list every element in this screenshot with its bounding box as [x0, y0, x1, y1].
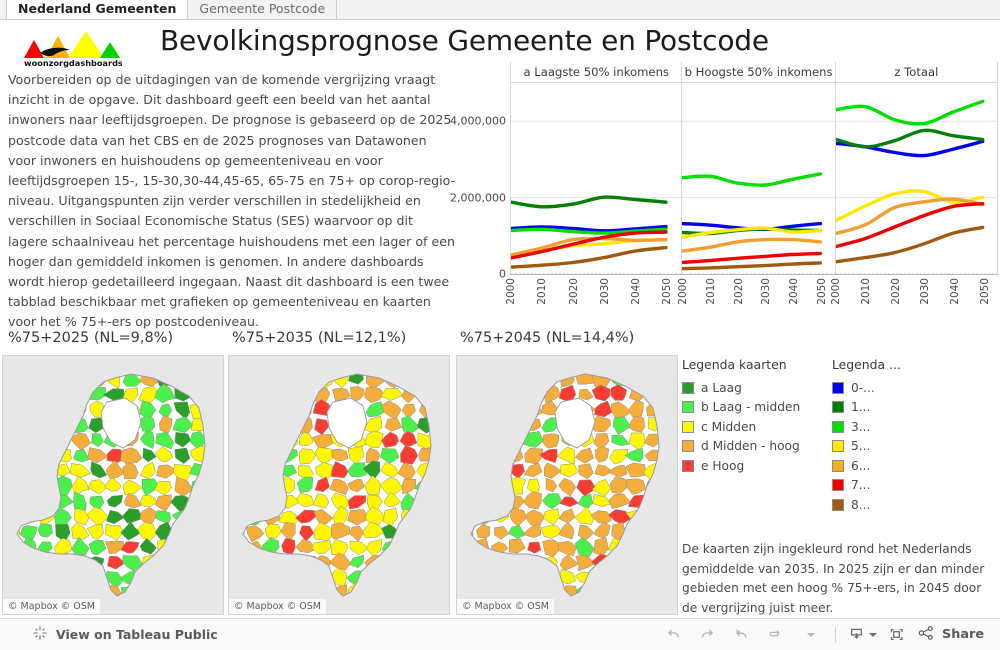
map-title-2025: %75+2025 (NL=9,8%) — [8, 330, 173, 346]
legend-line-label: 6... — [851, 459, 870, 473]
x-tick-label: 2020 — [568, 278, 580, 305]
intro-text: Voorbereiden op de uitdagingen van de ko… — [8, 70, 456, 333]
x-tick-label: 2020 — [890, 278, 902, 305]
map-title-2035: %75+2035 (NL=12,1%) — [232, 330, 406, 346]
legend-map-label: e Hoog — [701, 459, 744, 473]
series-line — [682, 174, 820, 185]
chevron-down-icon — [807, 633, 815, 637]
x-tick-label: 2010 — [536, 278, 548, 305]
series-line — [836, 130, 983, 147]
series-line — [682, 239, 820, 251]
x-ticks-z: 200020102020203020402050 — [835, 274, 998, 320]
legend-line-swatch — [832, 401, 844, 413]
legend-map-label: b Laag - midden — [701, 400, 800, 414]
series-line — [682, 263, 820, 269]
series-line — [836, 141, 983, 155]
legend-map-item[interactable]: e Hoog — [682, 456, 800, 476]
chart-panel-a-title: a Laagste 50% inkomens — [511, 62, 681, 83]
x-tick-label: 2050 — [979, 278, 991, 305]
toolbar-actions: Share — [656, 622, 984, 648]
chart-panel-a: a Laagste 50% inkomens — [510, 62, 681, 274]
chart-panel-b: b Hoogste 50% inkomens — [681, 62, 834, 274]
map-attribution-2025: © Mapbox © OSM — [3, 599, 100, 614]
intro-paragraph: Voorbereiden op de uitdagingen van de ko… — [8, 70, 456, 333]
legend-map-item[interactable]: b Laag - midden — [682, 398, 800, 418]
share-label: Share — [942, 627, 984, 642]
legend-line-label: 8... — [851, 498, 870, 512]
legend-line-item[interactable]: 8... — [832, 495, 901, 515]
toolbar-separator — [835, 627, 836, 643]
map-2045[interactable]: © Mapbox © OSM — [456, 355, 678, 615]
tab-gemeente-postcode[interactable]: Gemeente Postcode — [188, 0, 337, 19]
municipality-area[interactable] — [543, 434, 559, 449]
logo-text: woonzorgdashboards.nl — [24, 58, 122, 68]
chart-panel-z: z Totaal — [835, 62, 998, 274]
legend-line-label: 5... — [851, 439, 870, 453]
map-2035[interactable]: © Mapbox © OSM — [228, 355, 450, 615]
share-icon — [917, 624, 935, 646]
legend-line-swatch — [832, 440, 844, 452]
series-line — [511, 197, 666, 207]
legend-line-item[interactable]: 6... — [832, 456, 901, 476]
legend-map-swatch — [682, 460, 694, 472]
y-tick-label: 4,000,000 — [450, 115, 506, 128]
undo-button[interactable] — [656, 622, 690, 648]
x-tick-label: 2010 — [860, 278, 872, 305]
x-tick-label: 2000 — [677, 278, 689, 305]
chart-plot-b[interactable] — [682, 83, 834, 274]
line-chart-panel-group: 02,000,0004,000,000 a Laagste 50% inkome… — [458, 62, 998, 320]
x-tick-label: 2040 — [788, 278, 800, 305]
x-tick-label: 2030 — [760, 278, 772, 305]
chart-panels: a Laagste 50% inkomens b Hoogste 50% ink… — [510, 62, 998, 274]
revert-button[interactable] — [724, 622, 758, 648]
chart-plot-z[interactable] — [836, 83, 997, 274]
fullscreen-button[interactable] — [879, 622, 913, 648]
legend-line-swatch — [832, 382, 844, 394]
tableau-logo-icon — [32, 625, 48, 645]
choropleth-map — [457, 356, 678, 615]
view-on-tableau-public-button[interactable]: View on Tableau Public — [32, 625, 218, 645]
legend-line-label: 3... — [851, 420, 870, 434]
refresh-button[interactable] — [758, 622, 792, 648]
tab-nederland-gemeenten[interactable]: Nederland Gemeenten — [6, 0, 188, 19]
chart-plot-a[interactable] — [511, 83, 681, 274]
legend-line-item[interactable]: 1... — [832, 398, 901, 418]
legend-line-item[interactable]: 0-... — [832, 378, 901, 398]
legend-map-label: a Laag — [701, 381, 742, 395]
download-button[interactable] — [845, 622, 879, 648]
legend-line-label: 1... — [851, 400, 870, 414]
choropleth-map — [3, 356, 224, 615]
dashboard-root: Nederland Gemeenten Gemeente Postcode wo… — [0, 0, 1000, 650]
legend-map-swatch — [682, 440, 694, 452]
legend-map-swatch — [682, 382, 694, 394]
legend-line-label: 7... — [851, 478, 870, 492]
series-line — [836, 101, 983, 124]
y-tick-label: 2,000,000 — [450, 191, 506, 204]
map-2025[interactable]: © Mapbox © OSM — [2, 355, 224, 615]
pause-dropdown-button[interactable] — [792, 622, 826, 648]
legend-line-item[interactable]: 3... — [832, 417, 901, 437]
chart-y-axis: 02,000,0004,000,000 — [458, 62, 510, 274]
redo-button[interactable] — [690, 622, 724, 648]
legend-line-item[interactable]: 5... — [832, 437, 901, 457]
legend-line-swatch — [832, 460, 844, 472]
tab-bar: Nederland Gemeenten Gemeente Postcode — [0, 0, 1000, 20]
x-ticks-a: 200020102020203020402050 — [510, 274, 682, 320]
legend-lines: Legenda ... 0-...1...3...5...6...7...8..… — [832, 357, 901, 515]
legend-map-item[interactable]: c Midden — [682, 417, 800, 437]
map-title-2045: %75+2045 (NL=14,4%) — [460, 330, 634, 346]
legend-line-swatch — [832, 421, 844, 433]
x-tick-label: 2040 — [949, 278, 961, 305]
x-tick-label: 2020 — [733, 278, 745, 305]
x-tick-label: 2040 — [630, 278, 642, 305]
chart-panel-b-title: b Hoogste 50% inkomens — [682, 62, 834, 83]
x-ticks-b: 200020102020203020402050 — [682, 274, 835, 320]
legend-map-label: c Midden — [701, 420, 756, 434]
chevron-down-icon — [869, 633, 877, 637]
x-tick-label: 2030 — [599, 278, 611, 305]
legend-map-swatch — [682, 421, 694, 433]
legend-maps-items: a Laagb Laag - middenc Middend Midden - … — [682, 378, 800, 476]
x-tick-label: 2010 — [705, 278, 717, 305]
choropleth-map — [229, 356, 450, 615]
legend-maps: Legenda kaarten a Laagb Laag - middenc M… — [682, 357, 800, 476]
series-line — [682, 253, 820, 262]
legend-lines-items: 0-...1...3...5...6...7...8... — [832, 378, 901, 515]
share-button[interactable]: Share — [917, 624, 984, 646]
legend-map-label: d Midden - hoog — [701, 439, 800, 453]
legend-map-item[interactable]: d Midden - hoog — [682, 437, 800, 457]
chart-x-axis: 200020102020203020402050 200020102020203… — [510, 274, 998, 320]
legend-line-swatch — [832, 479, 844, 491]
view-on-tableau-public-label: View on Tableau Public — [56, 627, 218, 642]
footnote-text: De kaarten zijn ingekleurd rond het Nede… — [682, 540, 994, 618]
woonzorgdashboards-logo: woonzorgdashboards.nl — [10, 26, 122, 68]
map-attribution-2035: © Mapbox © OSM — [229, 599, 326, 614]
x-tick-label: 2000 — [830, 278, 842, 305]
legend-map-item[interactable]: a Laag — [682, 378, 800, 398]
x-tick-label: 2030 — [919, 278, 931, 305]
legend-line-label: 0-... — [851, 381, 875, 395]
legend-line-item[interactable]: 7... — [832, 476, 901, 496]
x-tick-label: 2050 — [661, 278, 673, 305]
page-title: Bevolkingsprognose Gemeente en Postcode — [160, 24, 769, 57]
legend-maps-title: Legenda kaarten — [682, 357, 800, 372]
x-tick-label: 2000 — [505, 278, 517, 305]
legend-map-swatch — [682, 401, 694, 413]
chart-panel-z-title: z Totaal — [836, 62, 997, 83]
map-attribution-2045: © Mapbox © OSM — [457, 599, 554, 614]
bottom-toolbar: View on Tableau Public — [0, 618, 1000, 650]
legend-line-swatch — [832, 499, 844, 511]
x-tick-label: 2050 — [816, 278, 828, 305]
legend-lines-title: Legenda ... — [832, 357, 901, 372]
series-line — [836, 227, 983, 261]
